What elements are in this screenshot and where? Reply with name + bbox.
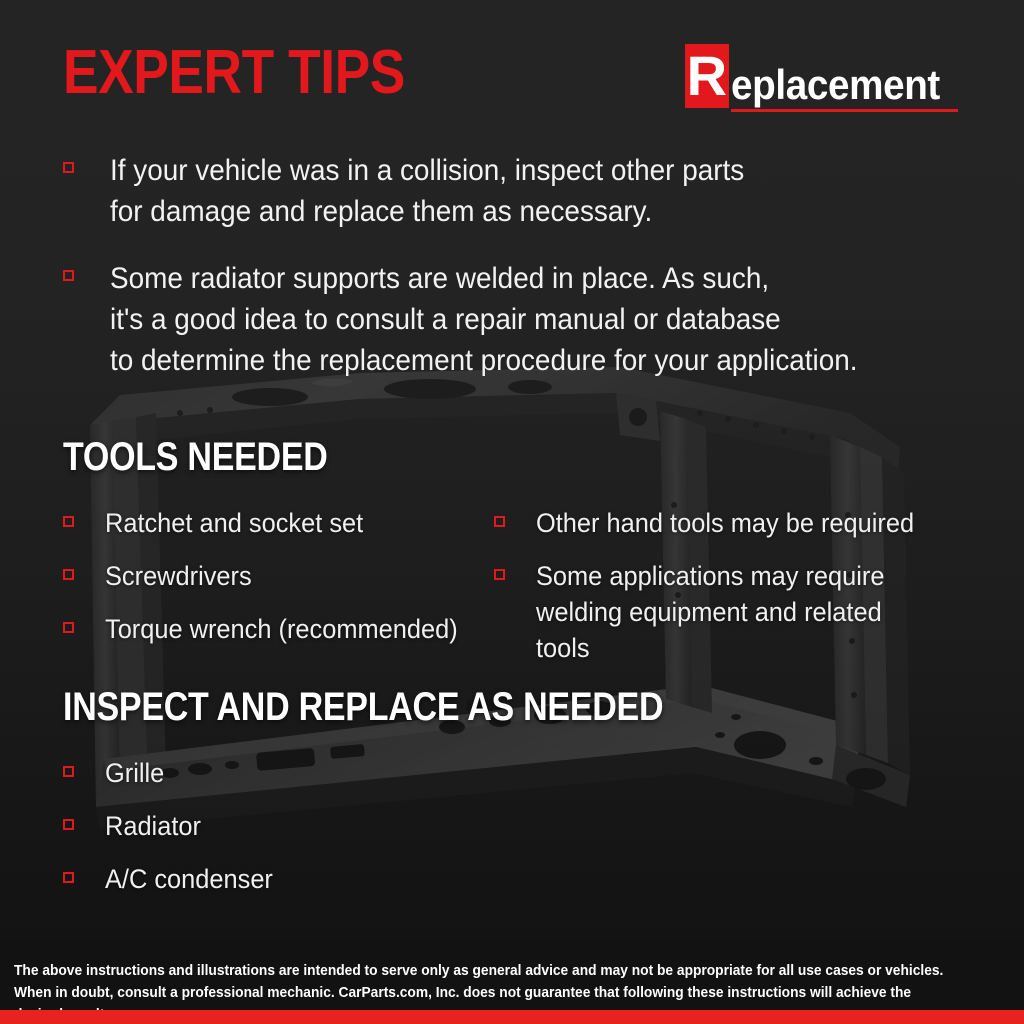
- tools-left-column: Ratchet and socket set Screwdrivers Torq…: [63, 505, 483, 664]
- square-bullet-icon: [63, 872, 74, 883]
- list-item: Grille: [63, 755, 493, 791]
- logo-underline: [731, 109, 958, 112]
- square-bullet-icon: [63, 622, 74, 633]
- inspect-label: Grille: [105, 755, 164, 791]
- inspect-label: Radiator: [105, 808, 201, 844]
- list-item: Torque wrench (recommended): [63, 611, 483, 647]
- list-item: Ratchet and socket set: [63, 505, 483, 541]
- footer-accent-bar: [0, 1010, 1024, 1024]
- square-bullet-icon: [63, 162, 74, 173]
- poster-footer: The above instructions and illustrations…: [0, 942, 1024, 1024]
- inspect-replace-heading: INSPECT AND REPLACE AS NEEDED: [63, 687, 663, 727]
- list-item: Screwdrivers: [63, 558, 483, 594]
- square-bullet-icon: [494, 516, 505, 527]
- tools-needed-heading: TOOLS NEEDED: [63, 437, 328, 477]
- replacement-brand-logo: R eplacement: [685, 44, 958, 108]
- logo-wordmark: eplacement: [731, 64, 940, 106]
- square-bullet-icon: [63, 819, 74, 830]
- square-bullet-icon: [63, 766, 74, 777]
- tool-label: Ratchet and socket set: [105, 505, 363, 541]
- tool-label: Screwdrivers: [105, 558, 252, 594]
- list-item: Other hand tools may be required: [494, 505, 964, 541]
- list-item: Some radiator supports are welded in pla…: [63, 258, 963, 381]
- tip-text: Some radiator supports are welded in pla…: [110, 258, 858, 381]
- logo-wordmark-wrap: eplacement: [731, 64, 958, 108]
- page-title: EXPERT TIPS: [63, 42, 405, 104]
- tool-label: Other hand tools may be required: [536, 505, 914, 541]
- logo-initial-badge: R: [685, 44, 729, 108]
- tip-text: If your vehicle was in a collision, insp…: [110, 150, 744, 232]
- square-bullet-icon: [63, 569, 74, 580]
- poster-header: EXPERT TIPS R eplacement: [0, 0, 1024, 132]
- inspect-label: A/C condenser: [105, 861, 273, 897]
- expert-tips-poster: EXPERT TIPS R eplacement If your vehicle…: [0, 0, 1024, 1024]
- tool-label: Some applications may require welding eq…: [536, 558, 938, 666]
- list-item: Radiator: [63, 808, 493, 844]
- square-bullet-icon: [63, 516, 74, 527]
- list-item: A/C condenser: [63, 861, 493, 897]
- tool-label: Torque wrench (recommended): [105, 611, 458, 647]
- expert-tips-list: If your vehicle was in a collision, insp…: [63, 150, 963, 407]
- inspect-replace-list: Grille Radiator A/C condenser: [63, 755, 493, 914]
- list-item: If your vehicle was in a collision, insp…: [63, 150, 963, 232]
- square-bullet-icon: [63, 270, 74, 281]
- tools-right-column: Other hand tools may be required Some ap…: [494, 505, 964, 683]
- list-item: Some applications may require welding eq…: [494, 558, 964, 666]
- square-bullet-icon: [494, 569, 505, 580]
